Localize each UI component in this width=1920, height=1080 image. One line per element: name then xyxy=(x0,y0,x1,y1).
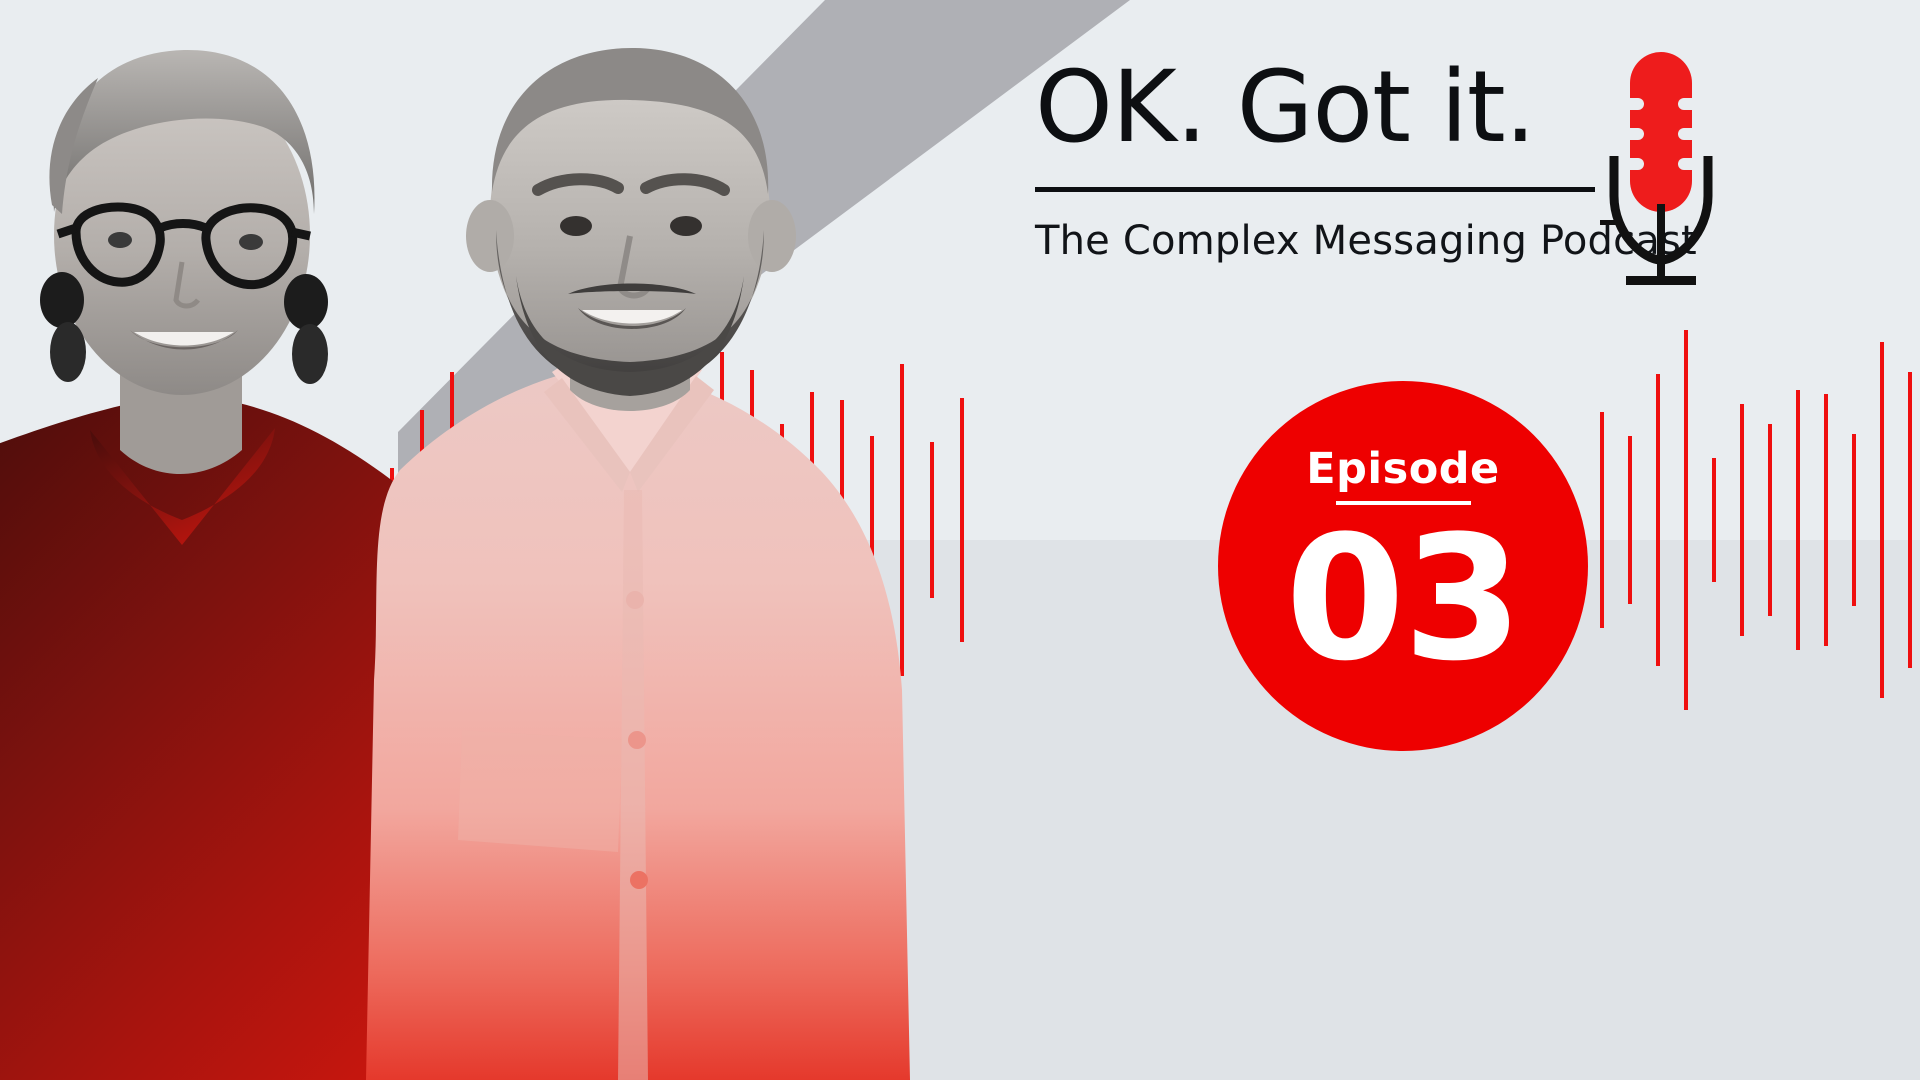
logo-divider xyxy=(1035,187,1595,192)
episode-label: Episode xyxy=(1306,448,1499,491)
microphone-icon xyxy=(1600,46,1720,296)
host-portrait-right xyxy=(330,40,950,1080)
podcast-title: OK. Got it. xyxy=(1035,58,1535,157)
episode-badge: Episode 03 xyxy=(1218,381,1588,751)
podcast-logo: OK. Got it. The Complex Messaging Podcas… xyxy=(1035,58,1655,264)
podcast-subtitle: The Complex Messaging Podcast xyxy=(1035,218,1535,264)
earring-right xyxy=(284,274,328,384)
episode-number: 03 xyxy=(1285,513,1520,685)
podcast-cover-art: OK. Got it. The Complex Messaging Podcas… xyxy=(0,0,1920,1080)
